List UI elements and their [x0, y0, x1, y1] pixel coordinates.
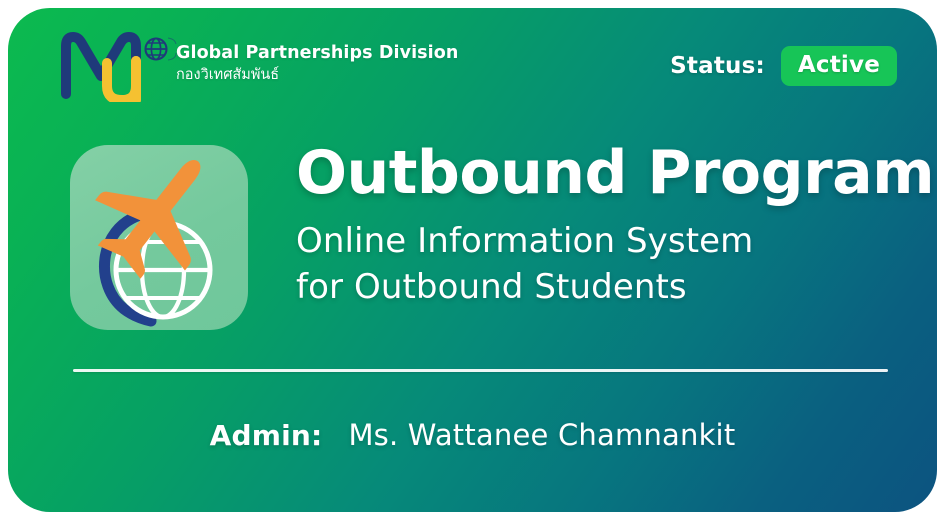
title-block: Outbound Program Online Information Syst… [296, 136, 926, 310]
card-header: Global Partnerships Division กองวิเทศสัม… [8, 8, 937, 116]
admin-label: Admin: [210, 419, 323, 452]
department-name-en: Global Partnerships Division [176, 42, 458, 64]
page-subtitle-line-1: Online Information System [296, 218, 926, 264]
department-name-th: กองวิเทศสัมพันธ์ [176, 65, 458, 86]
page-subtitle: Online Information System for Outbound S… [296, 218, 926, 310]
status-badge: Active [781, 46, 897, 86]
admin-row: Admin: Ms. Wattanee Chamnankit [8, 418, 937, 452]
page-subtitle-line-2: for Outbound Students [296, 264, 926, 310]
globe-icon [146, 38, 177, 60]
status-section: Status: Active [670, 46, 897, 86]
admin-name: Ms. Wattanee Chamnankit [348, 418, 735, 452]
mu-logo-letter-m [66, 37, 136, 94]
divider [73, 369, 888, 372]
mu-logo [60, 30, 178, 102]
app-icon-tile [70, 145, 248, 330]
status-label: Status: [670, 53, 765, 79]
page-title: Outbound Program [296, 136, 926, 210]
mu-logo-letter-u [107, 61, 136, 100]
program-info-card: Global Partnerships Division กองวิเทศสัม… [8, 8, 937, 512]
department-block: Global Partnerships Division กองวิเทศสัม… [176, 42, 458, 86]
